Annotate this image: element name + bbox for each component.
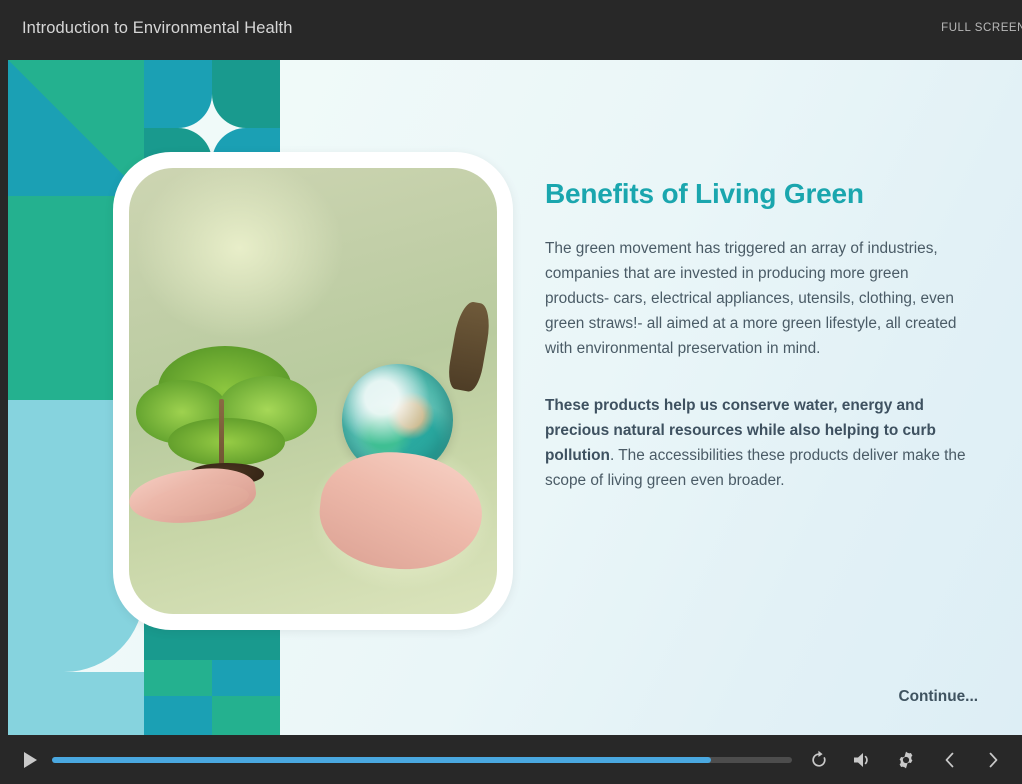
gear-icon[interactable] (889, 745, 923, 775)
fullscreen-button[interactable]: FULL SCREEN (941, 22, 1022, 34)
twig-detail (445, 300, 493, 394)
slide-heading: Benefits of Living Green (545, 178, 977, 210)
progress-fill (52, 757, 711, 763)
player-control-bar (0, 735, 1022, 784)
slide-canvas: Benefits of Living Green The green movem… (8, 60, 1022, 735)
bonsai-illustration (136, 346, 313, 533)
slide-paragraph-1: The green movement has triggered an arra… (545, 236, 977, 361)
continue-button[interactable]: Continue... (828, 688, 978, 706)
slide-text-column: Benefits of Living Green The green movem… (545, 178, 977, 493)
chevron-right-icon[interactable] (976, 745, 1010, 775)
right-hand (315, 445, 488, 577)
environment-photo (129, 168, 497, 614)
course-title: Introduction to Environmental Health (22, 19, 293, 38)
play-icon[interactable] (16, 746, 44, 774)
progress-bar[interactable] (52, 757, 793, 763)
chevron-left-icon[interactable] (933, 745, 967, 775)
volume-icon[interactable] (846, 745, 880, 775)
decorative-blob-lower (8, 672, 144, 735)
slide-paragraph-2: These products help us conserve water, e… (545, 393, 977, 493)
player-header: Introduction to Environmental Health FUL… (0, 0, 1022, 56)
slide-image-card (113, 152, 513, 630)
replay-icon[interactable] (802, 745, 836, 775)
